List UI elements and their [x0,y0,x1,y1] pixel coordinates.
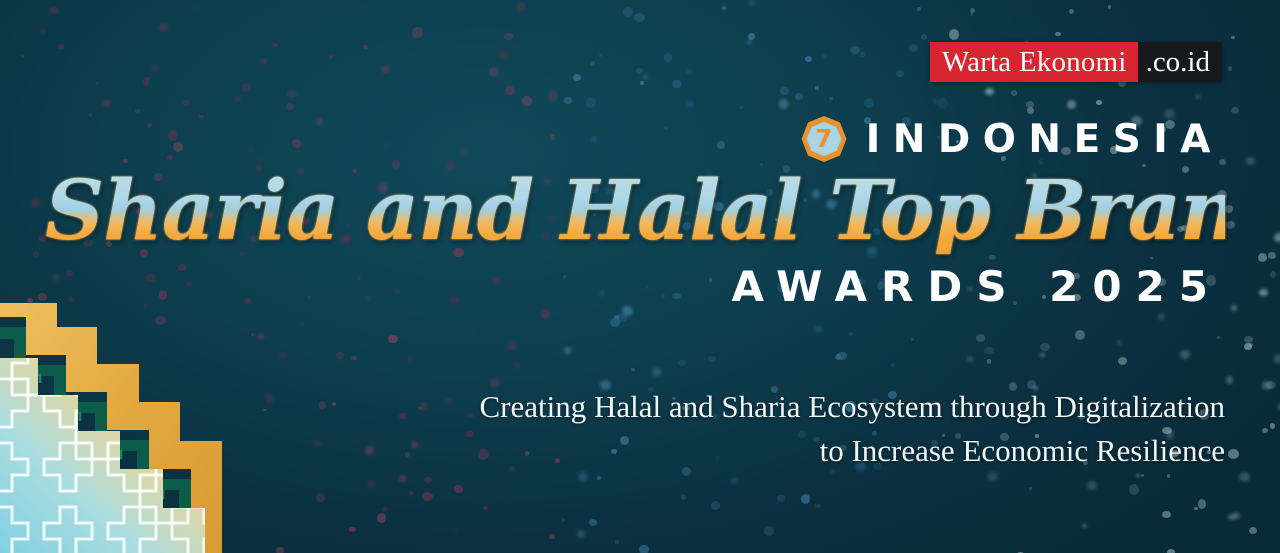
bokeh-dot [454,485,464,493]
bokeh-dot [672,80,682,88]
bokeh-dot [1249,527,1257,534]
bokeh-dot [1270,423,1275,429]
bokeh-dot [33,251,40,257]
bokeh-dot [1029,487,1033,491]
bokeh-dot [987,359,991,363]
bokeh-dot [382,66,389,73]
bokeh-dot [235,96,242,102]
bokeh-dot [985,88,995,96]
islamic-corner-ornament [0,303,240,553]
bokeh-dot [631,368,635,371]
bokeh-dot [260,59,265,64]
bokeh-dot [1108,5,1112,9]
bokeh-dot [1040,353,1045,357]
bokeh-dot [615,540,619,544]
bokeh-dot [1228,66,1233,71]
bokeh-dot [279,352,287,359]
bokeh-dot [1231,36,1235,39]
bokeh-dot [1233,512,1240,519]
bokeh-dot [377,513,386,522]
bokeh-dot [1196,95,1200,99]
edition-badge-icon: 7 [800,115,848,163]
bokeh-dot [652,368,661,376]
bokeh-dot [1259,289,1268,296]
bokeh-dot [483,506,489,510]
bokeh-dot [1136,474,1140,478]
logo-domain-suffix: .co.id [1138,42,1222,82]
bokeh-dot [514,363,520,369]
bokeh-dot [1244,343,1252,351]
bokeh-dot [748,0,754,6]
bokeh-dot [1231,107,1240,114]
bokeh-dot [286,103,294,110]
bokeh-dot [251,333,254,336]
bokeh-dot [976,334,985,342]
bokeh-dot [815,504,821,508]
country-label: INDONESIA [866,117,1225,162]
bokeh-dot [388,335,398,343]
bokeh-dot [711,501,721,510]
bokeh-dot [849,332,854,336]
tagline-line-1: Creating Halal and Sharia Ecosystem thro… [265,385,1225,429]
bokeh-dot [1167,549,1175,553]
bokeh-dot [1011,90,1017,95]
bokeh-dot [1129,484,1139,494]
bokeh-dot [489,67,499,77]
bokeh-dot [522,96,532,106]
bokeh-dot [49,7,58,14]
edition-number: 7 [800,115,848,163]
bokeh-dot [890,363,895,367]
bokeh-dot [686,69,692,74]
bokeh-dot [764,526,775,536]
bokeh-dot [805,56,812,62]
bokeh-dot [708,356,717,363]
bokeh-dot [1118,357,1127,365]
bokeh-dot [473,332,476,335]
bokeh-dot [549,534,555,539]
bokeh-dot [1158,313,1165,320]
bokeh-dot [822,54,827,60]
bokeh-dot [590,61,595,66]
bokeh-dot [599,54,603,57]
bokeh-dot [1087,481,1097,490]
bokeh-dot [564,97,573,104]
bokeh-dot [722,6,726,10]
script-title: Sharia and Halal Top Brand [45,170,1225,254]
bokeh-dot [151,65,159,71]
bokeh-dot [408,357,412,361]
bokeh-dot [687,101,693,107]
bokeh-dot [276,547,284,553]
bokeh-dot [316,493,325,502]
tagline-line-2: to Increase Economic Resilience [265,429,1225,473]
headline-block: 7 INDONESIA Sharia and Halal Top Brand A… [45,112,1225,311]
bokeh-dot [921,34,927,40]
bokeh-dot [1217,336,1220,339]
bokeh-dot [504,33,513,40]
bokeh-dot [363,45,368,50]
warta-ekonomi-logo[interactable]: Warta Ekonomi .co.id [930,42,1222,82]
bokeh-dot [731,478,739,484]
bokeh-dot [815,86,819,90]
bokeh-dot [351,356,356,361]
bokeh-dot [1262,381,1272,390]
bokeh-dot [1082,524,1087,529]
bokeh-dot [241,83,250,92]
bokeh-dot [617,313,627,322]
bokeh-dot [835,354,841,360]
bokeh-dot [909,44,917,52]
bokeh-dot [409,491,414,496]
bokeh-dot [564,347,571,354]
awards-year-label: AWARDS 2025 [45,262,1225,311]
bokeh-dot [159,24,168,32]
bokeh-dot [597,476,601,480]
bokeh-dot [183,100,189,105]
awards-banner: Warta Ekonomi .co.id 7 INDONESIA Sharia … [0,0,1280,553]
bokeh-dot [678,360,686,366]
bokeh-dot [949,29,960,40]
bokeh-dot [623,7,634,17]
bokeh-dot [577,530,585,538]
bokeh-dot [58,44,64,48]
bokeh-dot [1198,499,1207,508]
bokeh-dot [643,75,648,79]
bokeh-dot [934,99,939,104]
bokeh-dot [1262,428,1268,433]
bokeh-dot [777,495,785,503]
bokeh-dot [578,472,589,482]
bokeh-dot [1226,376,1233,384]
bokeh-dot [586,97,596,108]
bokeh-dot [779,99,789,109]
bokeh-dot [454,529,458,533]
bokeh-dot [424,477,432,483]
bokeh-dot [1167,474,1171,478]
bokeh-dot [1239,472,1250,482]
bokeh-dot [860,52,866,57]
bokeh-dot [987,472,998,481]
bokeh-dot [368,480,376,488]
bokeh-dot [938,98,948,109]
bokeh-dot [398,475,407,482]
bokeh-dot [329,55,333,59]
bokeh-dot [634,13,645,22]
bokeh-dot [970,12,973,15]
bokeh-dot [864,98,875,109]
bokeh-dot [287,90,297,98]
bokeh-dot [1231,305,1237,311]
bokeh-dot [1141,474,1145,477]
bokeh-dot [1055,32,1061,37]
bokeh-dot [1162,511,1171,518]
bokeh-dot [382,507,388,512]
bokeh-dot [911,338,915,341]
bokeh-dot [1228,449,1239,459]
bokeh-dot [548,91,558,101]
bokeh-dot [1194,507,1197,510]
bokeh-dot [1075,330,1086,340]
bokeh-dot [801,494,811,504]
bokeh-dot [412,27,423,38]
bokeh-dot [640,81,644,84]
bokeh-dot [1096,100,1102,105]
event-tagline: Creating Halal and Sharia Ecosystem thro… [265,385,1225,473]
logo-brand-name: Warta Ekonomi [930,42,1138,82]
bokeh-dot [1117,340,1122,345]
bokeh-dot [1040,343,1050,351]
bokeh-dot [589,519,598,526]
bokeh-dot [664,53,672,62]
bokeh-dot [498,51,508,59]
bokeh-dot [573,74,581,81]
bokeh-dot [984,347,994,355]
bokeh-dot [21,55,25,58]
bokeh-dot [1274,354,1280,364]
bokeh-dot [740,106,743,109]
bokeh-dot [1270,271,1276,278]
bokeh-dot [193,7,197,10]
bokeh-dot [562,518,566,522]
bokeh-dot [102,100,111,107]
bokeh-dot [829,97,833,101]
bokeh-dot [1180,350,1190,359]
bokeh-dot [780,87,790,95]
bokeh-dot [1067,100,1076,110]
bokeh-dot [505,86,515,95]
bokeh-dot [507,340,517,351]
bokeh-dot [815,326,822,332]
bokeh-dot [41,29,45,33]
country-line: 7 INDONESIA [45,112,1225,166]
bokeh-dot [681,494,687,500]
bokeh-dot [146,77,150,80]
bokeh-dot [301,322,305,326]
bokeh-dot [1069,9,1074,14]
bokeh-dot [747,40,751,44]
bokeh-dot [273,43,278,48]
bokeh-dot [795,93,803,100]
bokeh-dot [917,7,921,10]
bokeh-dot [896,70,905,77]
bokeh-dot [516,2,527,13]
bokeh-dot [422,492,433,501]
bokeh-dot [967,356,973,362]
bokeh-dot [257,334,264,340]
bokeh-dot [349,527,356,532]
bokeh-dot [639,545,650,553]
bokeh-dot [336,352,344,359]
bokeh-dot [636,68,643,74]
bokeh-dot [31,199,40,207]
bokeh-dot [96,82,99,85]
bokeh-dot [850,46,860,54]
